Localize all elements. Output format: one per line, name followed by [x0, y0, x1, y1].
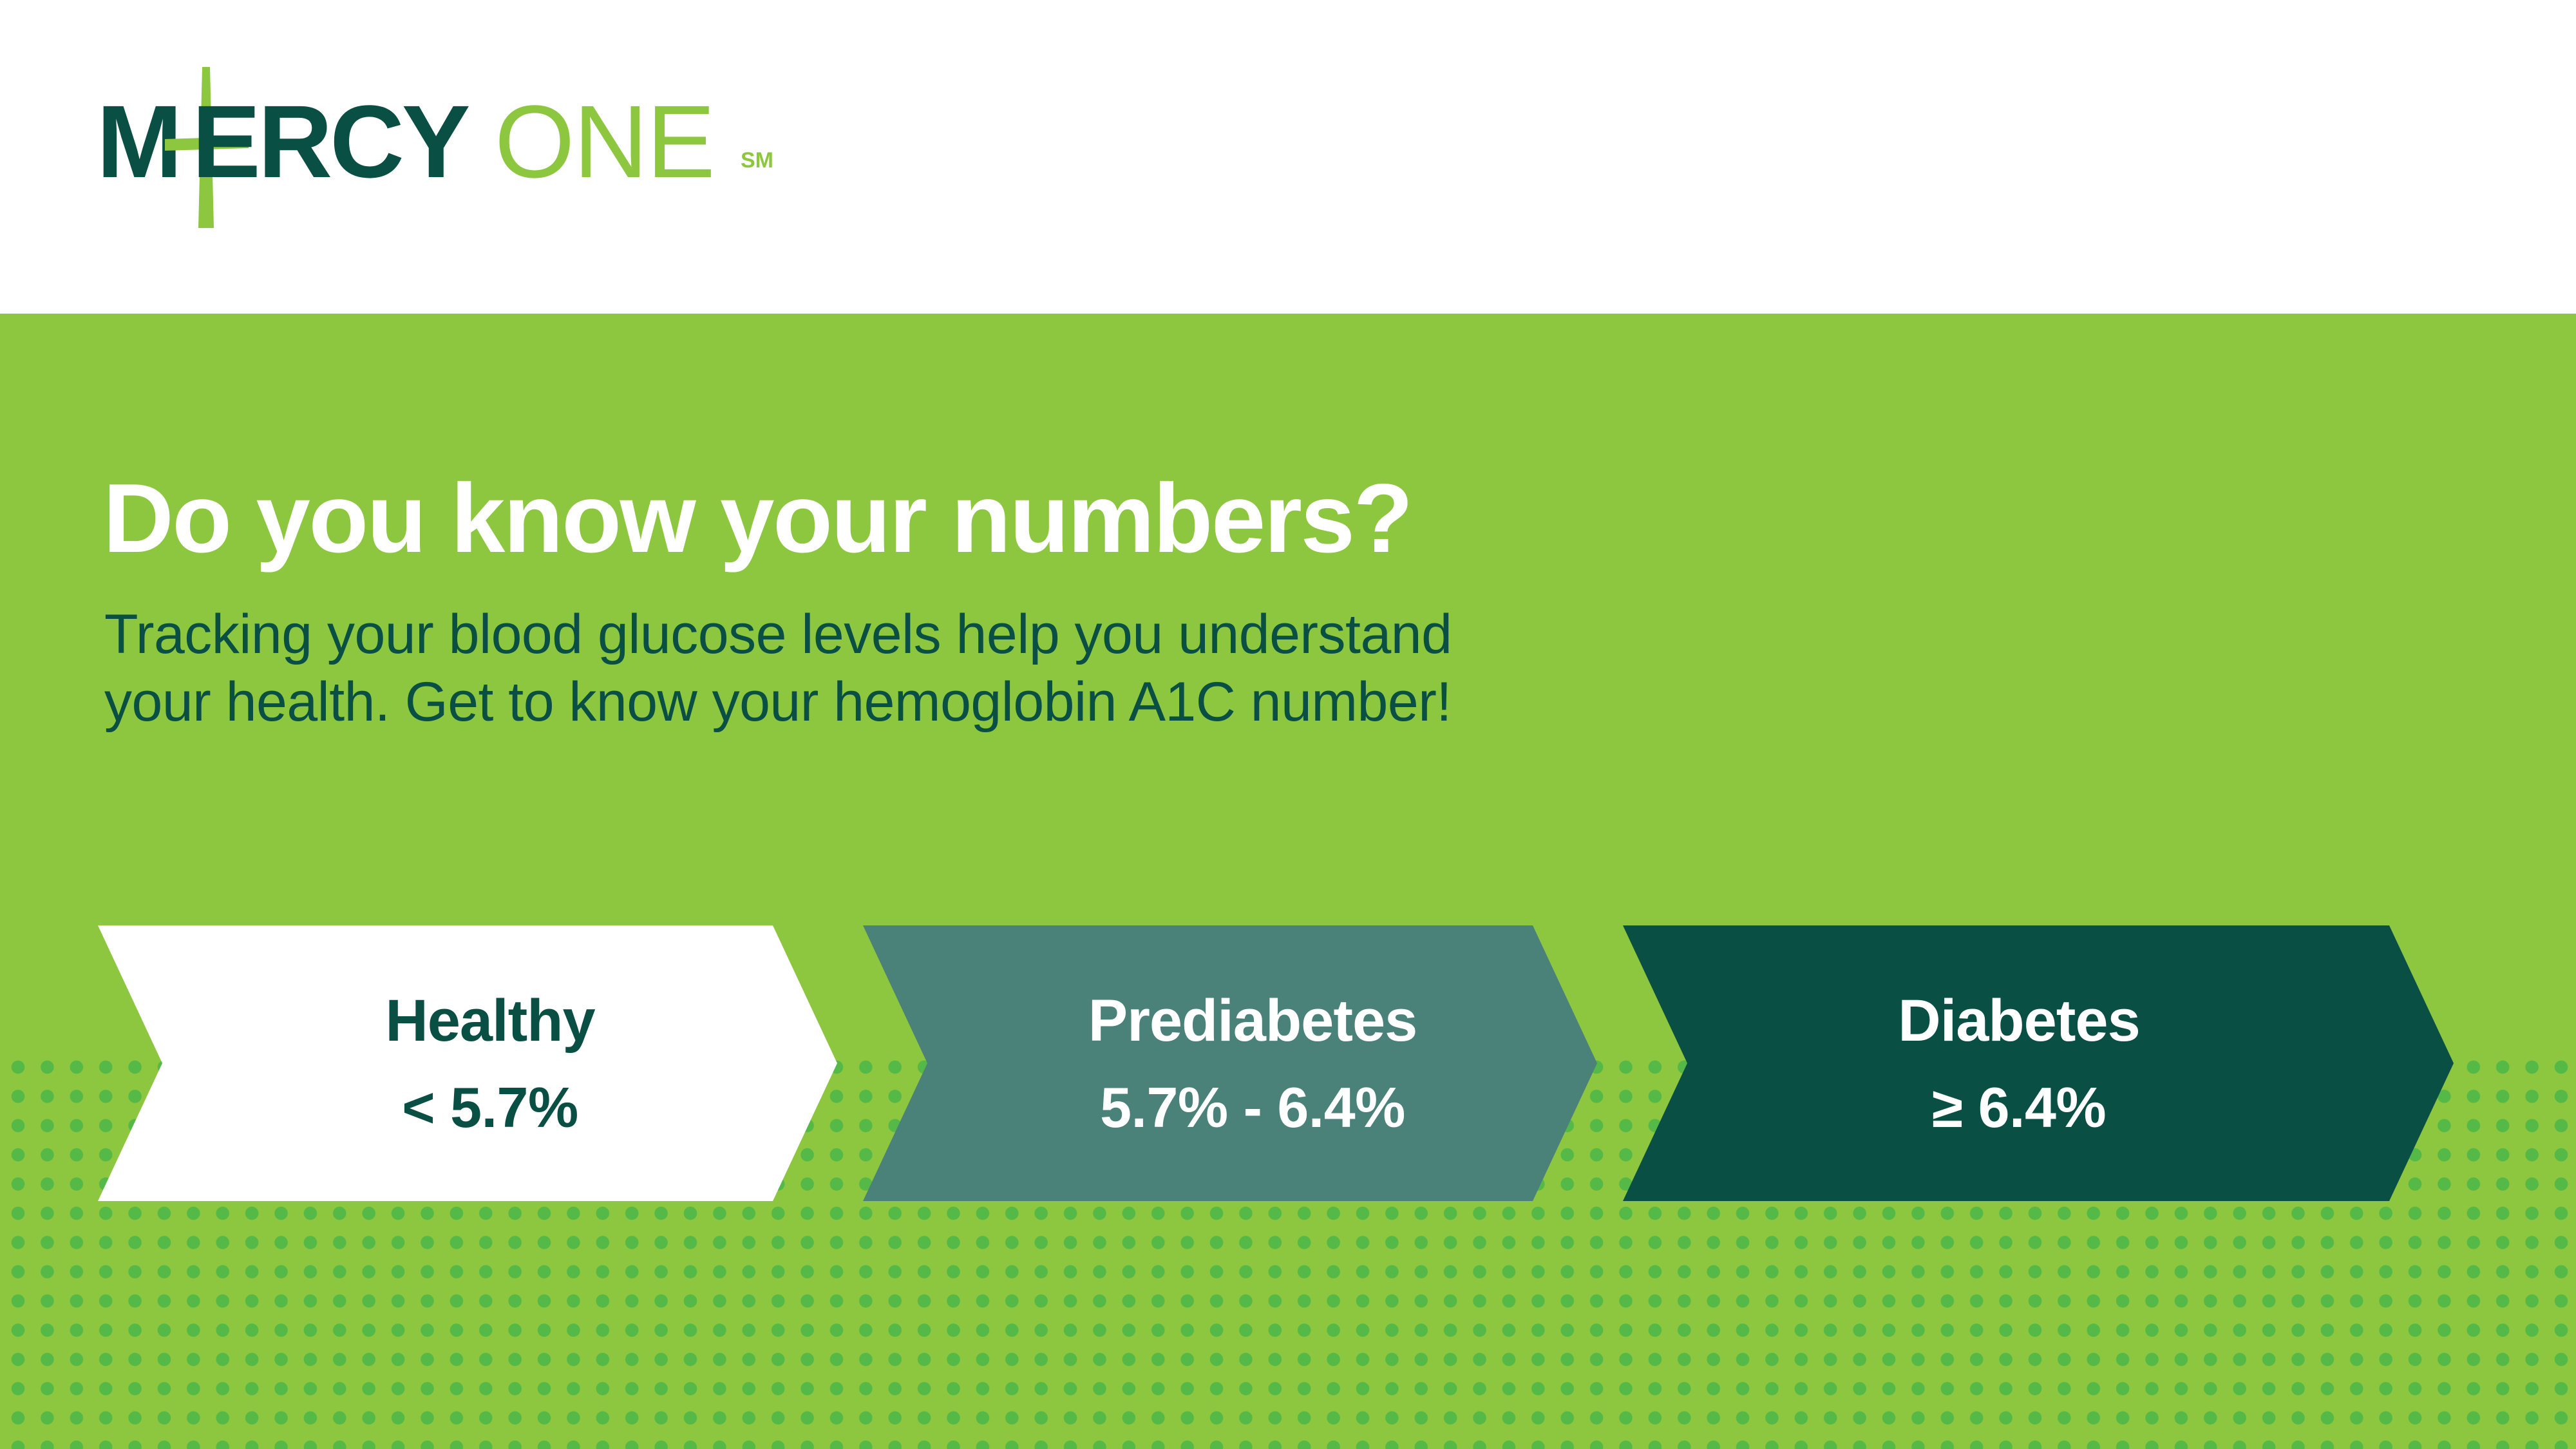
mercyone-logo[interactable]: M ERCY ONE SM — [97, 77, 818, 213]
range-segment-prediabetes[interactable]: Prediabetes 5.7% - 6.4% — [863, 925, 1597, 1201]
page-title: Do you know your numbers? — [103, 469, 2293, 567]
range-segment-diabetes[interactable]: Diabetes ≥ 6.4% — [1623, 925, 2454, 1201]
logo-wordmark-light: ONE — [495, 82, 714, 201]
segment-range-healthy: < 5.7% — [402, 1079, 578, 1136]
logo-sm-superscript: SM — [741, 148, 773, 173]
segment-range-diabetes: ≥ 6.4% — [1932, 1079, 2106, 1136]
header-bar: M ERCY ONE SM — [0, 0, 2576, 314]
green-panel: Do you know your numbers? Tracking your … — [0, 314, 2576, 1449]
segment-range-prediabetes: 5.7% - 6.4% — [1100, 1079, 1405, 1136]
logo-wordmark-dark2: ERCY — [192, 82, 468, 201]
segment-label-diabetes: Diabetes — [1898, 991, 2140, 1050]
a1c-range-banner: Healthy < 5.7% Prediabetes 5.7% - 6.4% D… — [0, 925, 2576, 1201]
segment-label-healthy: Healthy — [385, 991, 594, 1050]
segment-label-prediabetes: Prediabetes — [1088, 991, 1417, 1050]
poster-canvas: M ERCY ONE SM Do you know your numbers? … — [0, 0, 2576, 1449]
subheading: Tracking your blood glucose levels help … — [104, 607, 2101, 742]
subheading-line-1: Tracking your blood glucose levels help … — [104, 607, 2101, 674]
range-segment-healthy[interactable]: Healthy < 5.7% — [98, 925, 837, 1201]
subheading-line-2: your health. Get to know your hemoglobin… — [104, 674, 2101, 742]
